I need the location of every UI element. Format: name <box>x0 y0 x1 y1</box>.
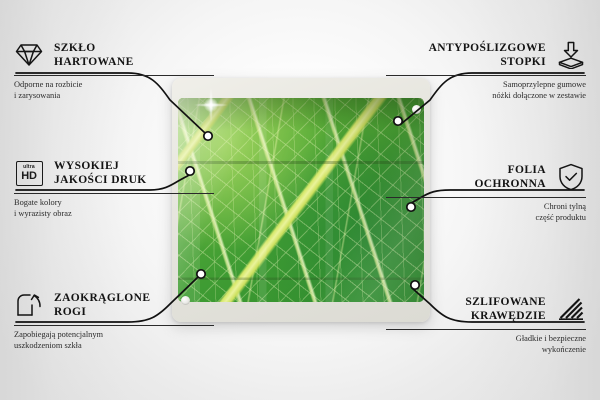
feature-subtitle: Samoprzylepne gumowe nóżki dołączone w z… <box>386 80 586 101</box>
feature-title-line2: STOPKI <box>500 56 546 68</box>
feature-header: FOLIA OCHRONNA <box>386 162 586 192</box>
feature-subtitle-line2: i zarysowania <box>14 91 60 100</box>
feature-title-line2: HARTOWANE <box>54 56 134 68</box>
feature-rounded-corners[interactable]: ZAOKRĄGLONE ROGI Zapobiegają potencjalny… <box>14 290 214 351</box>
feature-title: SZKŁO HARTOWANE <box>54 41 134 69</box>
feature-divider <box>14 193 214 194</box>
polished-edges-icon <box>556 294 586 324</box>
feature-title: ANTYPOŚLIZGOWE STOPKI <box>429 41 546 69</box>
feature-title-line1: SZLIFOWANE <box>465 296 546 308</box>
frame-dot-top-right <box>412 105 421 114</box>
diamond-icon <box>14 40 44 70</box>
feature-divider <box>14 75 214 76</box>
feature-anti-slip-feet[interactable]: ANTYPOŚLIZGOWE STOPKI Samoprzylepne gumo… <box>386 40 586 101</box>
feature-header: ultra HD WYSOKIEJ JAKOŚCI DRUK <box>14 158 214 188</box>
feature-title-line2: JAKOŚCI DRUK <box>54 174 147 186</box>
feature-subtitle: Odporne na rozbicie i zarysowania <box>14 80 214 101</box>
feature-title-line2: KRAWĘDZIE <box>471 310 546 322</box>
feature-header: ZAOKRĄGLONE ROGI <box>14 290 214 320</box>
feature-subtitle-line1: Gładkie i bezpieczne <box>516 334 586 343</box>
feature-subtitle-line2: wykończenie <box>542 345 586 354</box>
infographic-stage: SZKŁO HARTOWANE Odporne na rozbicie i za… <box>0 0 600 400</box>
feature-header: SZKŁO HARTOWANE <box>14 40 214 70</box>
feature-subtitle-line2: i wyrazisty obraz <box>14 209 72 218</box>
feature-divider <box>386 329 586 330</box>
rounded-corner-icon <box>14 290 44 320</box>
feature-subtitle-line1: Samoprzylepne gumowe <box>503 80 586 89</box>
feature-subtitle-line2: nóżki dołączone w zestawie <box>492 91 586 100</box>
feature-title-line2: ROGI <box>54 306 86 318</box>
feature-divider <box>14 325 214 326</box>
anti-slip-foot-icon <box>556 40 586 70</box>
feature-polished-edges[interactable]: SZLIFOWANE KRAWĘDZIE Gładkie i bezpieczn… <box>386 294 586 355</box>
feature-subtitle: Bogate kolory i wyrazisty obraz <box>14 198 214 219</box>
feature-high-quality-print[interactable]: ultra HD WYSOKIEJ JAKOŚCI DRUK Bogate ko… <box>14 158 214 219</box>
feature-title-line1: ANTYPOŚLIZGOWE <box>429 42 546 54</box>
feature-header: SZLIFOWANE KRAWĘDZIE <box>386 294 586 324</box>
feature-subtitle: Chroni tylną część produktu <box>386 202 586 223</box>
feature-subtitle-line1: Odporne na rozbicie <box>14 80 82 89</box>
feature-title-line1: ZAOKRĄGLONE <box>54 292 150 304</box>
feature-title-line1: WYSOKIEJ <box>54 160 119 172</box>
feature-title-line2: OCHRONNA <box>474 178 546 190</box>
shield-check-icon <box>556 162 586 192</box>
feature-subtitle: Gładkie i bezpieczne wykończenie <box>386 334 586 355</box>
feature-tempered-glass[interactable]: SZKŁO HARTOWANE Odporne na rozbicie i za… <box>14 40 214 101</box>
feature-subtitle-line1: Zapobiegają potencjalnym <box>14 330 103 339</box>
feature-title-line1: SZKŁO <box>54 42 96 54</box>
feature-divider <box>386 75 586 76</box>
feature-header: ANTYPOŚLIZGOWE STOPKI <box>386 40 586 70</box>
feature-title: WYSOKIEJ JAKOŚCI DRUK <box>54 159 147 187</box>
feature-title: SZLIFOWANE KRAWĘDZIE <box>465 295 546 323</box>
feature-subtitle-line2: część produktu <box>536 213 586 222</box>
feature-subtitle-line1: Bogate kolory <box>14 198 62 207</box>
feature-subtitle: Zapobiegają potencjalnym uszkodzeniom sz… <box>14 330 214 351</box>
ultra-hd-badge-icon: ultra HD <box>14 158 44 188</box>
badge-ultra-label: ultra <box>23 165 35 170</box>
feature-divider <box>386 197 586 198</box>
feature-title: FOLIA OCHRONNA <box>474 163 546 191</box>
feature-subtitle-line1: Chroni tylną <box>544 202 586 211</box>
feature-title: ZAOKRĄGLONE ROGI <box>54 291 150 319</box>
feature-subtitle-line2: uszkodzeniom szkła <box>14 341 82 350</box>
feature-title-line1: FOLIA <box>508 164 546 176</box>
badge-hd-label: HD <box>21 171 37 182</box>
feature-protective-film[interactable]: FOLIA OCHRONNA Chroni tylną część produk… <box>386 162 586 223</box>
